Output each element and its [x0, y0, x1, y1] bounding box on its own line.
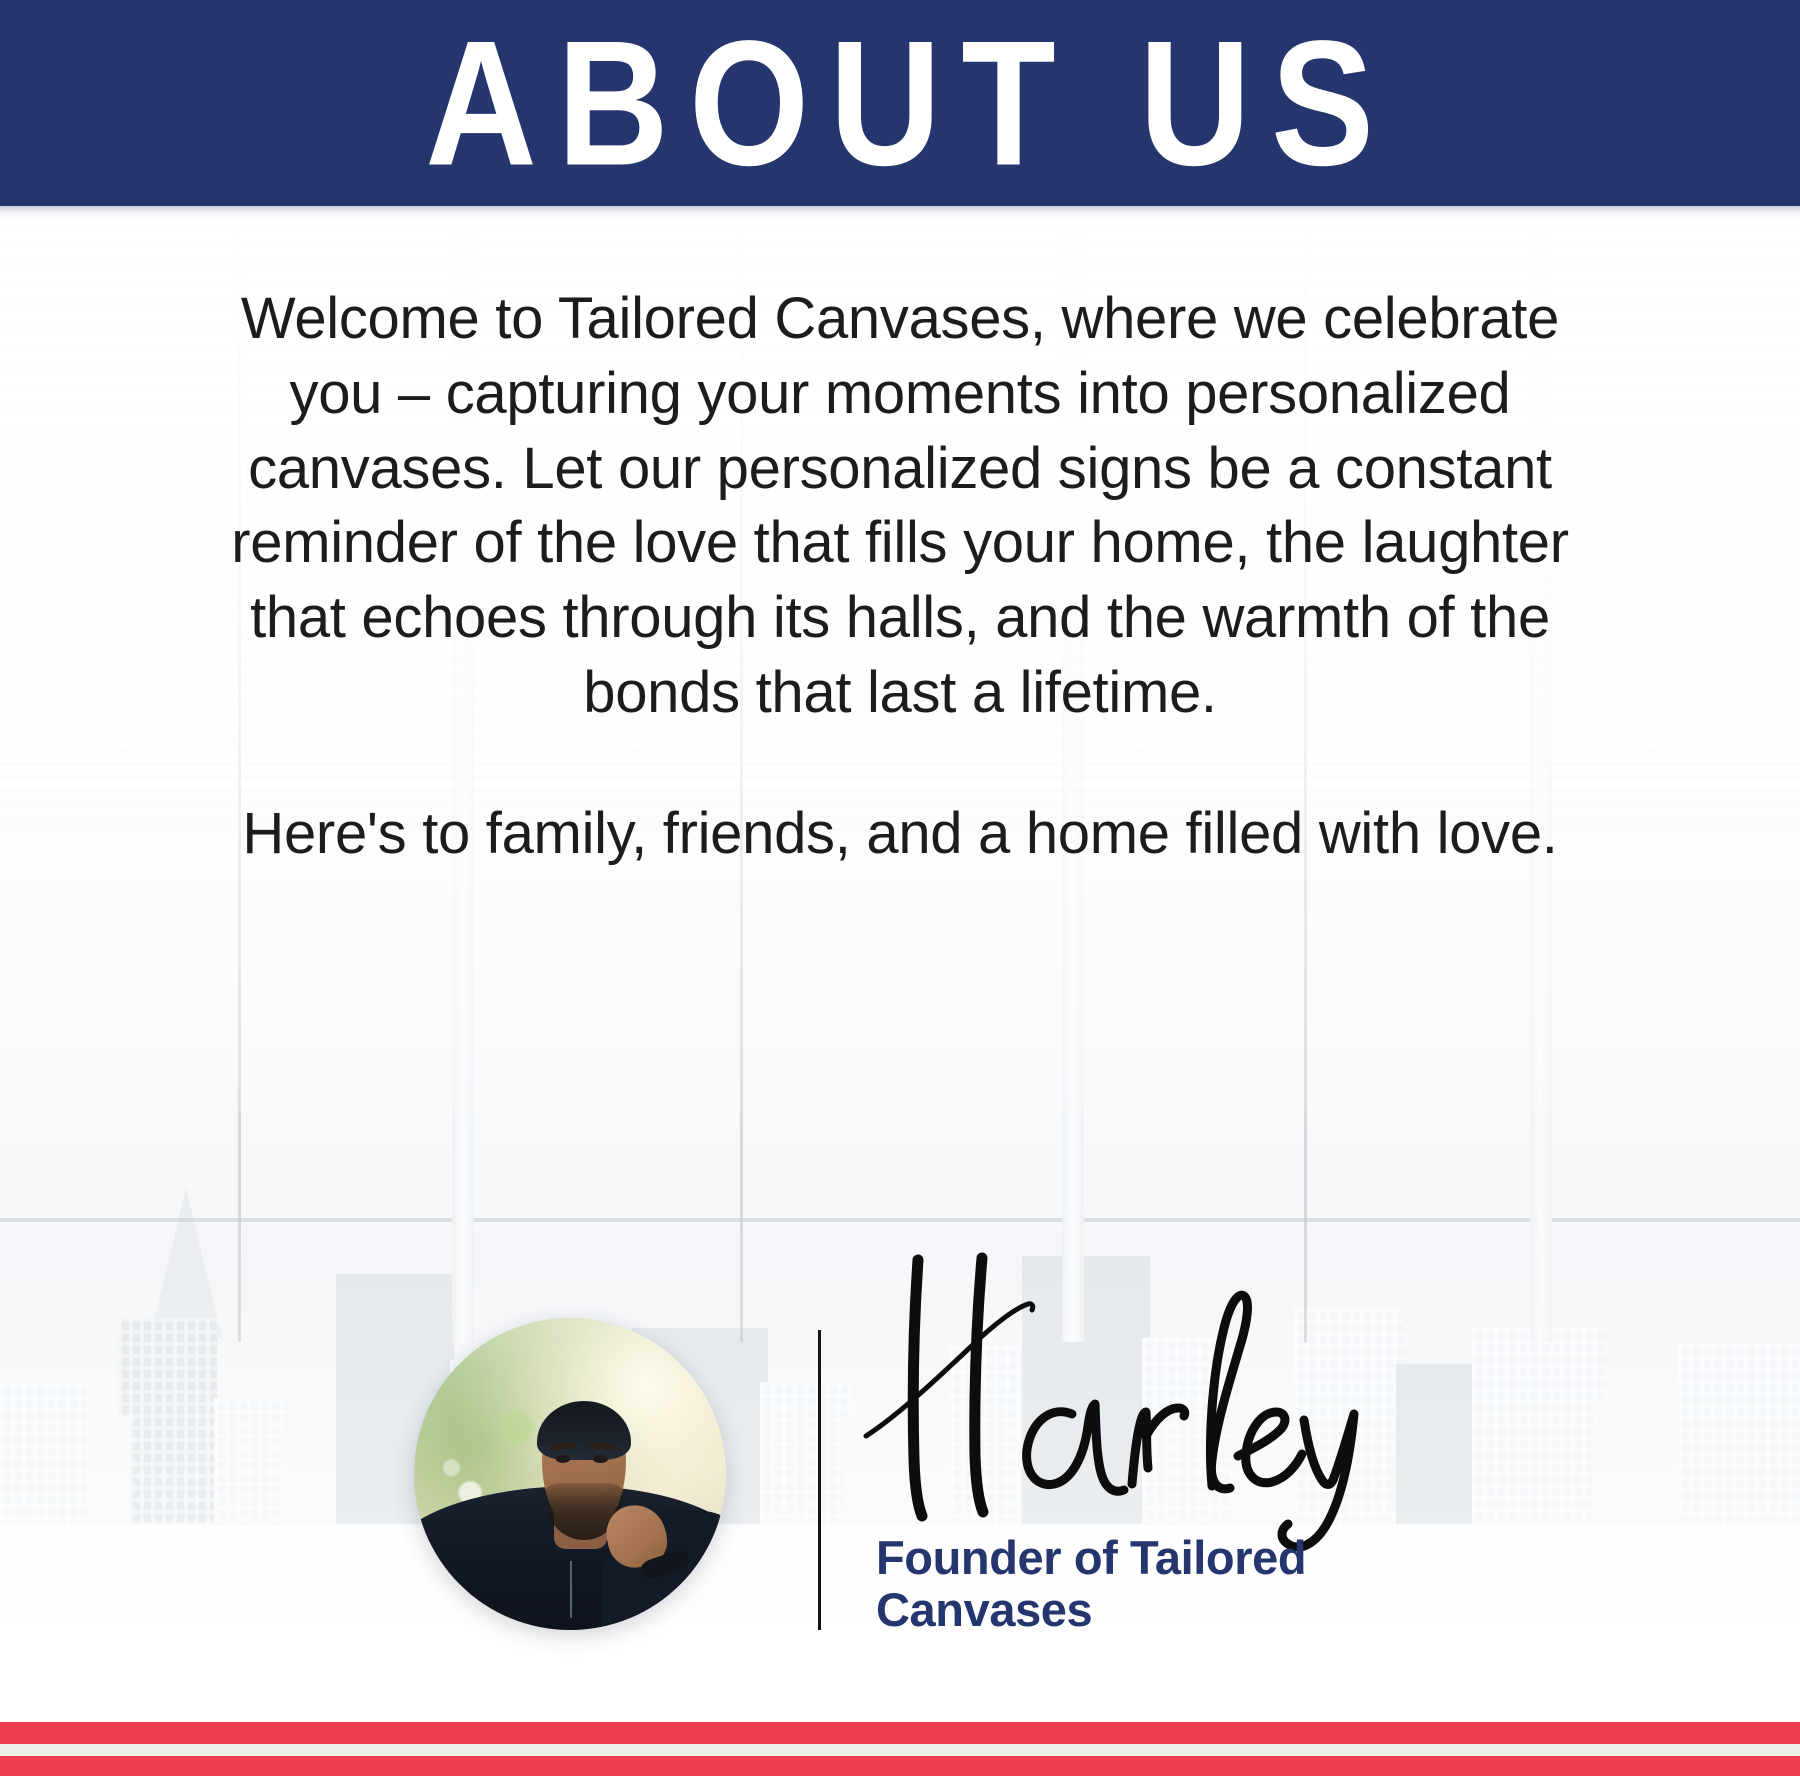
- founder-signature: [856, 1168, 1376, 1548]
- header-drop-shadow: [0, 206, 1800, 220]
- page-header: ABOUT US: [0, 0, 1800, 206]
- about-paragraph-1: Welcome to Tailored Canvases, where we c…: [210, 282, 1590, 731]
- pyramid-tower-icon: [150, 1188, 222, 1338]
- about-us-card: ABOUT US Welcome to Tailored Canvases, w…: [0, 0, 1800, 1776]
- founder-role-line-2: Canvases: [876, 1584, 1496, 1636]
- avatar-eye-right: [593, 1455, 607, 1462]
- avatar-eye-left: [556, 1455, 570, 1462]
- signature-divider: [818, 1330, 821, 1630]
- avatar-necklace: [570, 1561, 572, 1617]
- founder-role: Founder of Tailored Canvases: [876, 1532, 1496, 1635]
- paragraph-spacer: [210, 731, 1590, 797]
- founder-role-line-1: Founder of Tailored: [876, 1532, 1496, 1584]
- page-title: ABOUT US: [405, 14, 1394, 192]
- footer-stripe-bottom: [0, 1756, 1800, 1776]
- about-us-body-text: Welcome to Tailored Canvases, where we c…: [210, 282, 1590, 872]
- footer-stripe-top: [0, 1722, 1800, 1744]
- founder-avatar: [414, 1318, 726, 1630]
- footer-stripe-gap: [0, 1744, 1800, 1756]
- about-paragraph-2: Here's to family, friends, and a home fi…: [210, 797, 1590, 872]
